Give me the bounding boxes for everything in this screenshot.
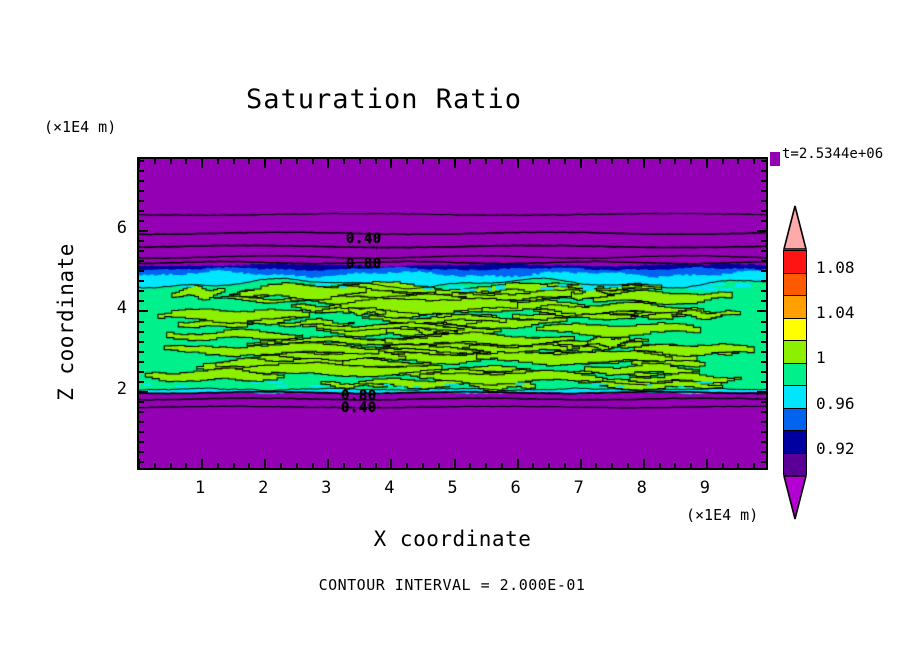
colorbar-label: 0.96 [816,394,855,413]
y-tick [139,290,144,292]
y-tick-right [761,401,766,403]
colorbar-band-1 [784,274,806,297]
contour-label: 0.40 [346,231,382,247]
x-tick [233,463,235,468]
y-tick [139,331,144,333]
x-tick-top [501,159,503,164]
x-tick [154,463,156,468]
y-tick [139,401,144,403]
y-tick [139,310,148,312]
colorbar-band-8 [784,431,806,454]
x-tick-top [627,159,629,164]
x-tick-top [690,159,692,164]
x-tick [343,463,345,468]
x-tick [170,463,172,468]
y-tick [139,280,144,282]
x-tick-top [706,159,708,168]
y-tick-right [761,421,766,423]
x-tick [422,463,424,468]
x-tick-top [343,159,345,164]
y-tick [139,381,144,383]
colorbar-band-2 [784,296,806,319]
y-axis-title: Z coordinate [54,232,78,412]
x-tick-top [595,159,597,164]
y-tick-right [761,461,766,463]
y-tick-right [761,160,766,162]
x-tick [185,463,187,468]
x-tick-top [454,159,456,168]
x-tick-top [264,159,266,168]
x-tick [532,463,534,468]
y-tick-right [761,411,766,413]
x-tick-label: 4 [369,478,409,498]
y-tick [139,180,144,182]
x-tick-top [580,159,582,168]
x-tick [659,463,661,468]
x-tick [485,463,487,468]
x-tick [706,459,708,468]
x-tick-top [643,159,645,168]
y-tick [139,220,144,222]
y-tick [139,160,144,162]
x-tick-label: 1 [180,478,220,498]
colorbar-label: 0.92 [816,439,855,458]
x-tick-top [722,159,724,164]
x-tick [217,463,219,468]
x-tick-label: 7 [559,478,599,498]
x-tick-label: 8 [622,478,662,498]
x-tick-top [170,159,172,164]
x-tick-top [185,159,187,164]
y-tick-right [761,431,766,433]
y-tick [139,431,144,433]
contour-label: 0.40 [341,400,377,416]
y-tick [139,170,144,172]
x-tick-top [217,159,219,164]
x-tick-label: 5 [433,478,473,498]
x-tick [564,463,566,468]
y-tick [139,421,144,423]
x-tick-top [737,159,739,164]
x-tick-top [548,159,550,164]
y-tick-right [761,441,766,443]
x-tick [327,459,329,468]
x-tick-top [564,159,566,164]
x-tick [296,463,298,468]
y-tick [139,371,144,373]
x-tick-top [406,159,408,164]
x-tick-top [674,159,676,164]
x-tick-top [201,159,203,168]
x-tick [627,463,629,468]
y-tick-right [757,230,766,232]
y-tick-right [761,351,766,353]
y-tick-label: 4 [97,298,127,318]
y-tick [139,270,144,272]
y-tick-right [757,310,766,312]
colorbar-band-7 [784,409,806,432]
x-tick-top [611,159,613,164]
x-tick [501,463,503,468]
y-tick-right [761,270,766,272]
x-tick [611,463,613,468]
y-tick [139,250,144,252]
x-tick-top [469,159,471,164]
x-tick [312,463,314,468]
y-tick [139,361,144,363]
x-tick-top [517,159,519,168]
y-axis-units-label: (×1E4 m) [44,118,116,136]
y-tick-right [761,300,766,302]
colorbar-bottom-arrow-icon [783,475,807,520]
y-tick-right [761,321,766,323]
x-tick [580,459,582,468]
y-tick-right [761,240,766,242]
x-tick-top [327,159,329,168]
contour-field-canvas [139,159,768,470]
y-tick [139,351,144,353]
x-tick [390,459,392,468]
colorbar-label: 1.08 [816,258,855,277]
x-tick [737,463,739,468]
page-title: Saturation Ratio [0,84,768,115]
x-tick [595,463,597,468]
y-tick-right [761,250,766,252]
x-tick-top [154,159,156,164]
x-tick [264,459,266,468]
x-tick [454,459,456,468]
y-tick-right [761,341,766,343]
y-tick-right [761,290,766,292]
colorbar-label: 1 [816,348,826,367]
y-tick-right [761,451,766,453]
x-tick-label: 2 [243,478,283,498]
x-tick [359,463,361,468]
x-tick [201,459,203,468]
x-tick-top [312,159,314,164]
y-tick-right [761,260,766,262]
y-tick [139,200,144,202]
contour-label: 0.80 [346,256,382,272]
y-tick [139,391,148,393]
contour-plot-area[interactable] [137,157,768,470]
y-tick-right [757,391,766,393]
x-tick [438,463,440,468]
x-axis-title: X coordinate [137,527,768,551]
y-tick [139,411,144,413]
y-tick [139,441,144,443]
x-tick-top [485,159,487,164]
colorbar[interactable] [780,205,810,520]
x-tick-top [296,159,298,164]
y-tick [139,260,144,262]
x-tick [406,463,408,468]
x-tick [643,459,645,468]
x-tick-top [659,159,661,164]
y-tick-label: 6 [97,218,127,238]
colorbar-band-9 [784,454,806,477]
colorbar-band-0 [784,251,806,274]
y-tick-right [761,280,766,282]
y-tick [139,300,144,302]
x-tick-label: 6 [496,478,536,498]
colorbar-band-6 [784,386,806,409]
x-tick [280,463,282,468]
x-tick-top [248,159,250,164]
x-axis-units-label: (×1E4 m) [686,506,758,524]
x-tick-top [532,159,534,164]
x-tick-label: 3 [306,478,346,498]
y-tick-right [761,190,766,192]
x-tick [517,459,519,468]
y-tick-right [761,381,766,383]
y-tick-right [761,220,766,222]
time-annotation: t=2.5344e+06 [782,146,883,162]
x-tick-top [233,159,235,164]
y-tick [139,451,144,453]
x-tick [248,463,250,468]
y-tick-right [761,200,766,202]
colorbar-band-3 [784,319,806,342]
y-tick [139,230,148,232]
y-tick [139,321,144,323]
y-tick-label: 2 [97,379,127,399]
time-annotation-swatch [770,152,780,166]
x-tick [690,463,692,468]
x-tick-top [422,159,424,164]
x-tick [674,463,676,468]
colorbar-band-4 [784,341,806,364]
contour-interval-caption: CONTOUR INTERVAL = 2.000E-01 [0,576,904,594]
colorbar-bands [783,250,807,475]
y-tick [139,210,144,212]
colorbar-label: 1.04 [816,303,855,322]
y-tick-right [761,361,766,363]
x-tick-top [390,159,392,168]
x-tick [375,463,377,468]
y-tick-right [761,180,766,182]
x-tick-top [280,159,282,164]
x-tick-top [438,159,440,164]
x-tick [469,463,471,468]
x-tick [753,463,755,468]
y-tick [139,461,144,463]
y-tick-right [761,210,766,212]
y-tick-right [761,371,766,373]
colorbar-top-arrow-icon [783,205,807,250]
y-tick [139,190,144,192]
y-tick [139,341,144,343]
x-tick-top [375,159,377,164]
x-tick [722,463,724,468]
x-tick [548,463,550,468]
colorbar-band-5 [784,364,806,387]
x-tick-label: 9 [685,478,725,498]
y-tick-right [761,331,766,333]
x-tick-top [753,159,755,164]
x-tick-top [359,159,361,164]
y-tick-right [761,170,766,172]
y-tick [139,240,144,242]
